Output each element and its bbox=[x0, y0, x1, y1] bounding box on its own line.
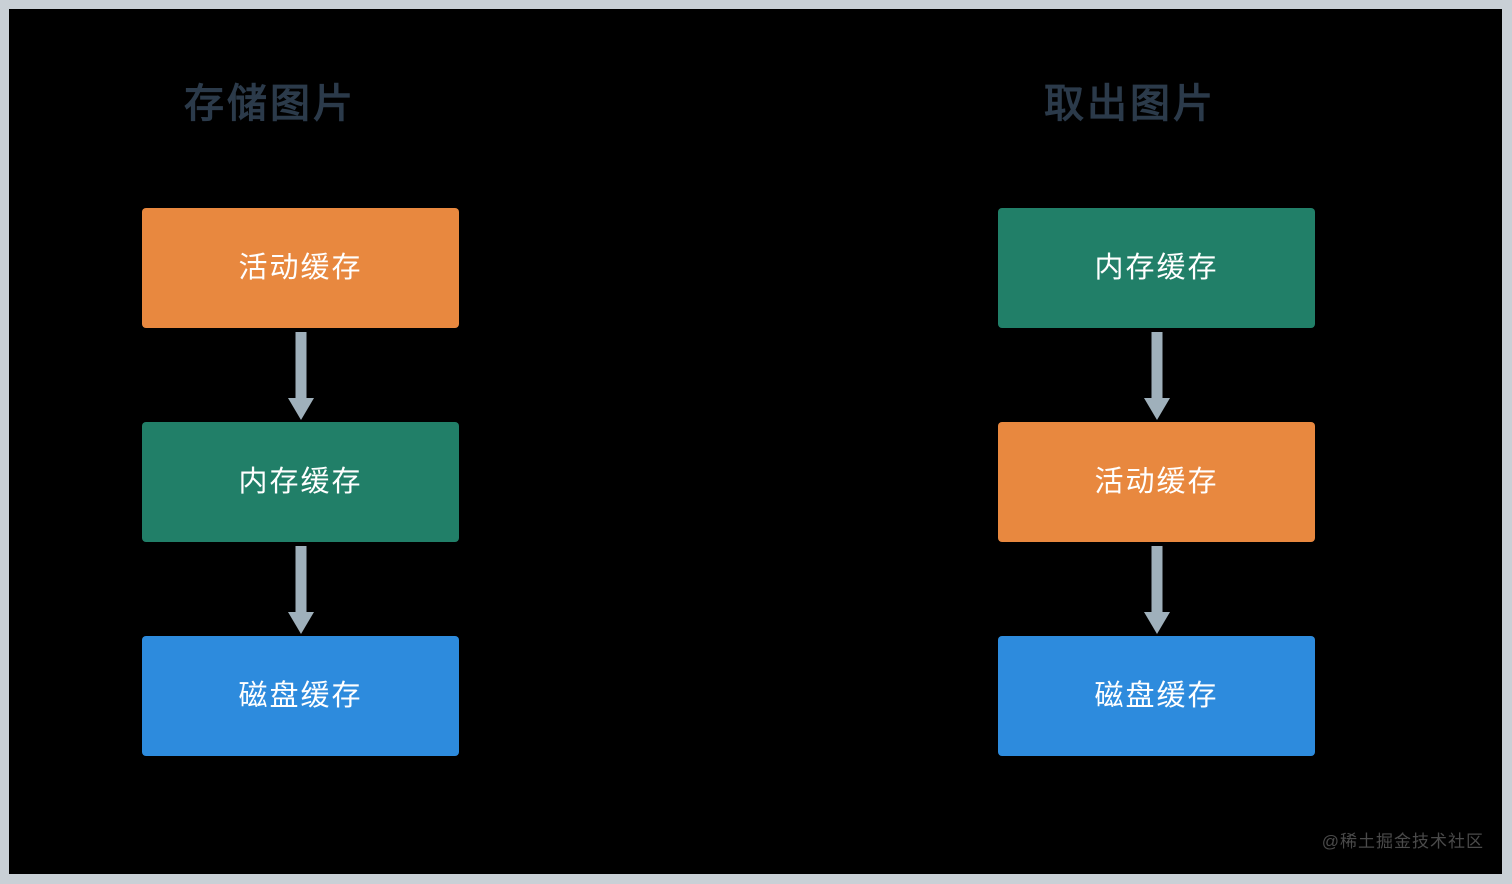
node-label: 磁盘缓存 bbox=[1094, 682, 1218, 711]
diagram-frame: 存储图片 取出图片 活动缓存 内存缓存 磁盘缓存 bbox=[0, 0, 1512, 884]
arrow-down-icon bbox=[998, 328, 1315, 422]
node-store-active-cache[interactable]: 活动缓存 bbox=[142, 208, 459, 328]
node-fetch-disk-cache[interactable]: 磁盘缓存 bbox=[998, 636, 1315, 756]
arrow-head bbox=[1144, 612, 1170, 634]
arrow-shaft bbox=[295, 546, 306, 618]
arrow-down-icon bbox=[998, 542, 1315, 636]
node-label: 内存缓存 bbox=[238, 468, 362, 497]
arrow-shaft bbox=[295, 332, 306, 404]
node-store-memory-cache[interactable]: 内存缓存 bbox=[142, 422, 459, 542]
column-title-store: 存储图片 bbox=[184, 84, 356, 124]
node-store-disk-cache[interactable]: 磁盘缓存 bbox=[142, 636, 459, 756]
node-label: 磁盘缓存 bbox=[238, 682, 362, 711]
node-fetch-active-cache[interactable]: 活动缓存 bbox=[998, 422, 1315, 542]
arrow-down-icon bbox=[142, 542, 459, 636]
watermark: @稀土掘金技术社区 bbox=[1322, 827, 1484, 852]
arrow-shaft bbox=[1151, 546, 1162, 618]
node-fetch-memory-cache[interactable]: 内存缓存 bbox=[998, 208, 1315, 328]
node-label: 活动缓存 bbox=[1094, 468, 1218, 497]
node-label: 活动缓存 bbox=[238, 254, 362, 283]
arrow-head bbox=[288, 398, 314, 420]
flow-column-fetch: 内存缓存 活动缓存 磁盘缓存 bbox=[998, 208, 1315, 756]
column-title-fetch: 取出图片 bbox=[1044, 84, 1216, 124]
arrow-head bbox=[1144, 398, 1170, 420]
arrow-head bbox=[288, 612, 314, 634]
arrow-down-icon bbox=[142, 328, 459, 422]
node-label: 内存缓存 bbox=[1094, 254, 1218, 283]
diagram-canvas: 存储图片 取出图片 活动缓存 内存缓存 磁盘缓存 bbox=[9, 9, 1502, 874]
flow-column-store: 活动缓存 内存缓存 磁盘缓存 bbox=[142, 208, 459, 756]
arrow-shaft bbox=[1151, 332, 1162, 404]
